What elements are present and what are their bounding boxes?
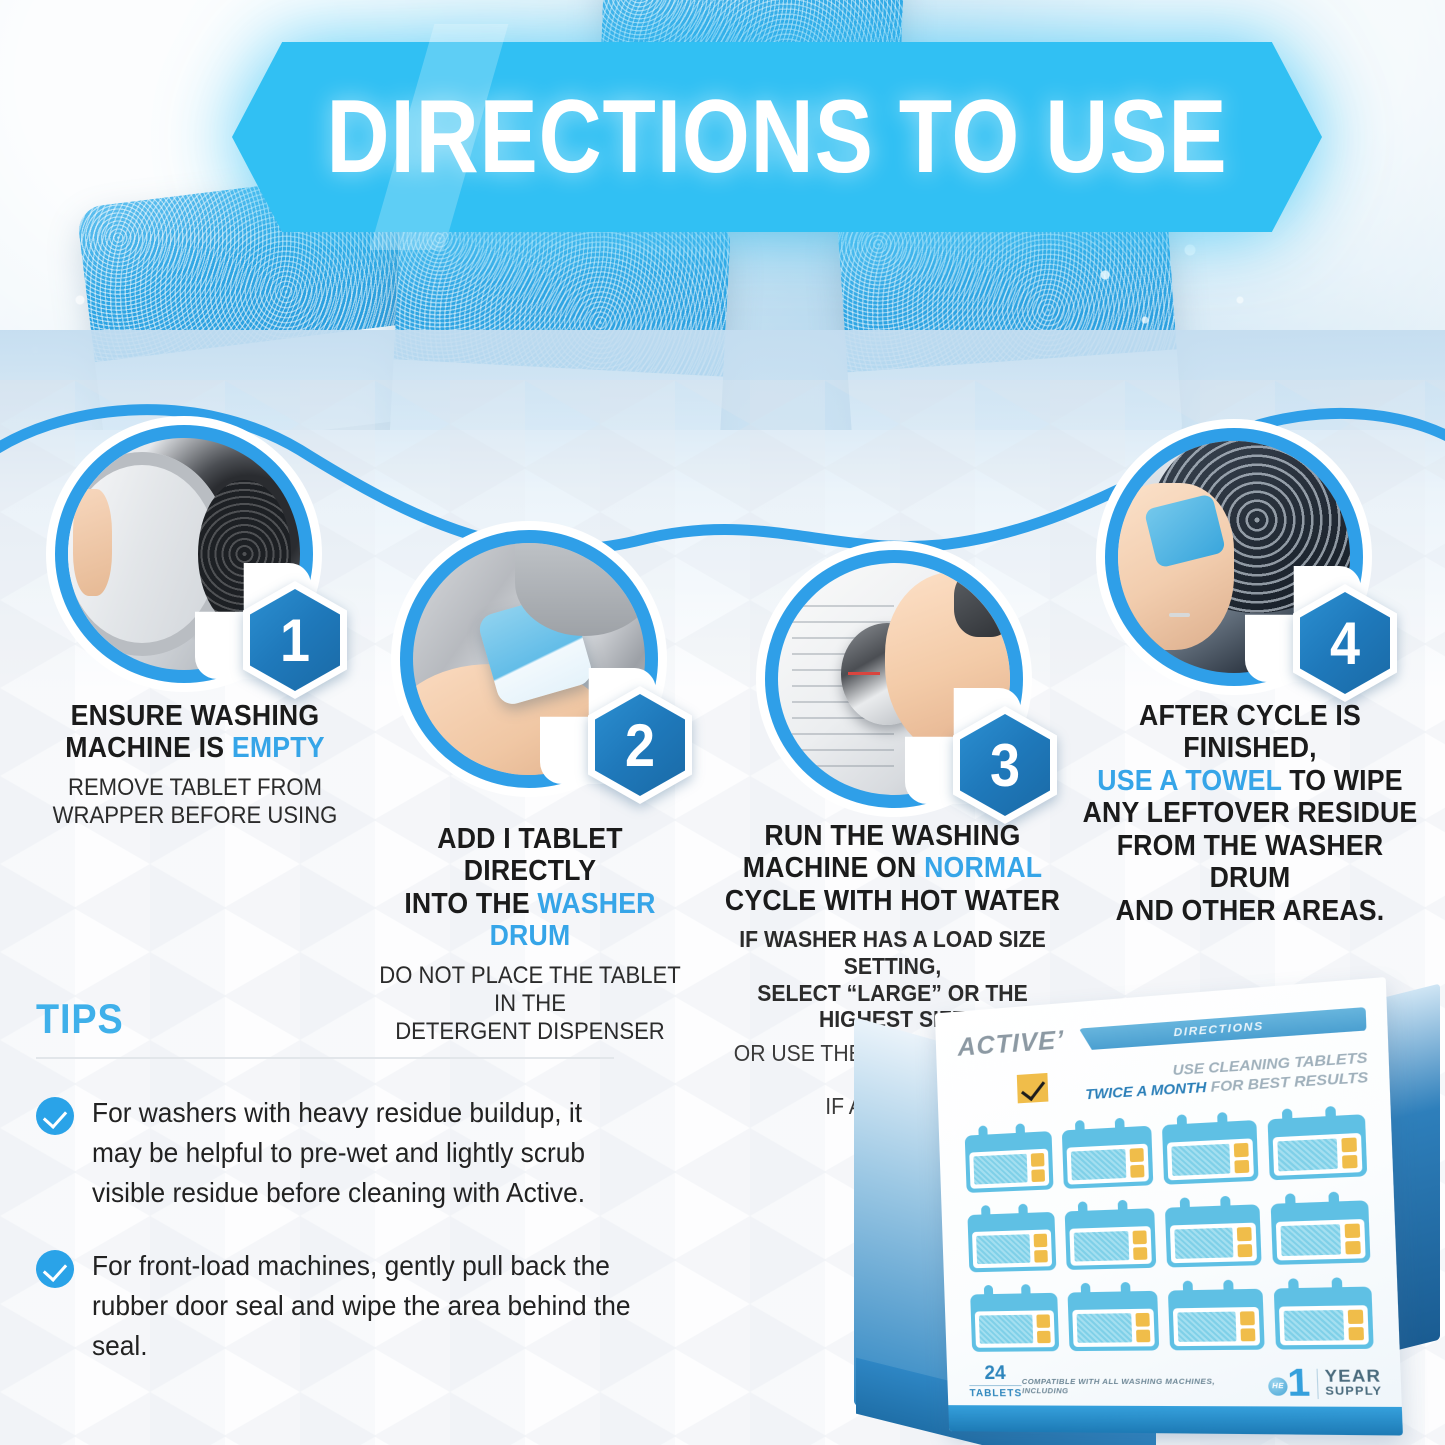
step-4-heading-line1: AFTER CYCLE IS FINISHED,	[1080, 700, 1420, 765]
directions-label: DIRECTIONS	[1173, 1020, 1264, 1039]
calendar-icon	[1168, 1279, 1265, 1350]
tip-text: For washers with heavy residue buildup, …	[92, 1093, 632, 1212]
step-1-number: 1	[248, 581, 342, 699]
directions-bar: DIRECTIONS	[1079, 1007, 1367, 1051]
step-2-heading-line2: INTO THE WASHER DRUM	[369, 888, 691, 953]
step-3-heading-line3: CYCLE WITH HOT WATER	[725, 885, 1061, 917]
calendar-icon	[1067, 1282, 1160, 1352]
brand-logo: ACTIVE’	[957, 1026, 1065, 1063]
tablet-count-label: TABLETS	[969, 1385, 1022, 1399]
infographic-canvas: DIRECTIONS TO USE 1 ENSURE WASHING MACHI…	[0, 0, 1445, 1445]
step-4-heading-line3: ANY LEFTOVER RESIDUE	[1080, 797, 1420, 829]
tips-title: TIPS	[36, 995, 603, 1043]
supply-badge: 1 YEAR SUPPLY	[1287, 1367, 1383, 1401]
calendar-icon	[1162, 1111, 1258, 1185]
calendar-icon	[964, 1122, 1053, 1193]
tips-section: TIPS For washers with heavy residue buil…	[36, 995, 666, 1366]
calendar-icon	[967, 1203, 1056, 1273]
step-1-circle: 1	[55, 425, 313, 683]
tablet-count-number: 24	[969, 1364, 1022, 1383]
step-4-number: 4	[1298, 584, 1392, 702]
step-3-heading: RUN THE WASHING MACHINE ON NORMAL CYCLE …	[725, 820, 1061, 917]
step-3-number: 3	[958, 706, 1052, 824]
calendar-icon	[1061, 1117, 1153, 1190]
step-4-circle: 4	[1105, 428, 1363, 686]
supply-label: SUPPLY	[1325, 1386, 1382, 1399]
step-4-number-badge: 4	[1293, 584, 1397, 702]
step-4-heading-line5: AND OTHER AREAS.	[1080, 895, 1420, 927]
step-1-heading-line2: MACHINE IS EMPTY	[43, 732, 347, 764]
calendar-icon	[1270, 1191, 1371, 1265]
calendar-icon	[1267, 1105, 1368, 1181]
calendar-icon	[1064, 1199, 1156, 1270]
supply-year: YEAR	[1324, 1368, 1382, 1386]
step-2-heading: ADD I TABLET DIRECTLY INTO THE WASHER DR…	[369, 823, 691, 953]
step-3-heading-line1: RUN THE WASHING	[725, 820, 1061, 852]
step-4-highlight: USE A TOWEL	[1097, 765, 1281, 797]
checkbox-icon	[1017, 1073, 1049, 1103]
check-icon	[36, 1097, 74, 1135]
step-2-number-badge: 2	[588, 686, 692, 804]
step-3-number-badge: 3	[953, 706, 1057, 824]
check-icon	[36, 1250, 74, 1288]
step-3-heading-line2: MACHINE ON NORMAL	[725, 852, 1061, 884]
product-box-front-panel: ACTIVE’ DIRECTIONS USE CLEANING TABLETS …	[935, 977, 1403, 1435]
step-1-heading-line1: ENSURE WASHING	[43, 700, 347, 732]
calendar-icon	[1273, 1277, 1374, 1350]
step-1-number-badge: 1	[243, 581, 347, 699]
tip-item: For washers with heavy residue buildup, …	[36, 1093, 666, 1212]
step-1-heading: ENSURE WASHING MACHINE IS EMPTY	[43, 700, 347, 765]
product-box: ACTIVE’ DIRECTIONS USE CLEANING TABLETS …	[846, 995, 1445, 1445]
step-3-highlight: NORMAL	[924, 852, 1042, 884]
step-2-number: 2	[593, 686, 687, 804]
tips-divider	[36, 1057, 614, 1059]
compatibility-note: COMPATIBLE WITH ALL WASHING MACHINES, IN…	[1022, 1376, 1288, 1400]
step-1-highlight: EMPTY	[232, 732, 325, 764]
page-title: DIRECTIONS TO USE	[319, 42, 1235, 232]
step-1-subtext: REMOVE TABLET FROM WRAPPER BEFORE USING	[43, 774, 347, 830]
tip-text: For front-load machines, gently pull bac…	[92, 1246, 632, 1365]
he-icon: HE	[1268, 1377, 1287, 1395]
step-3-circle: 3	[765, 550, 1023, 808]
step-4-heading: AFTER CYCLE IS FINISHED, USE A TOWEL TO …	[1080, 700, 1420, 927]
calendar-grid	[960, 1104, 1378, 1352]
step-4-heading-line4: FROM THE WASHER DRUM	[1080, 830, 1420, 895]
tablet-count: 24 TABLETS	[969, 1364, 1023, 1400]
supply-number: 1	[1287, 1367, 1311, 1400]
compatibility-text: COMPATIBLE WITH ALL WASHING MACHINES, IN…	[1022, 1376, 1263, 1395]
step-4-heading-line2: USE A TOWEL TO WIPE	[1080, 765, 1420, 797]
product-box-footer: 24 TABLETS COMPATIBLE WITH ALL WASHING M…	[969, 1362, 1383, 1400]
step-1-caption: ENSURE WASHING MACHINE IS EMPTY REMOVE T…	[30, 700, 360, 830]
calendar-icon	[1165, 1195, 1262, 1268]
step-2-circle: 2	[400, 530, 658, 788]
step-2-heading-line1: ADD I TABLET DIRECTLY	[369, 823, 691, 888]
page-title-banner: DIRECTIONS TO USE	[232, 42, 1322, 232]
tip-item: For front-load machines, gently pull bac…	[36, 1246, 666, 1365]
step-4-caption: AFTER CYCLE IS FINISHED, USE A TOWEL TO …	[1065, 700, 1435, 927]
calendar-icon	[970, 1284, 1059, 1352]
